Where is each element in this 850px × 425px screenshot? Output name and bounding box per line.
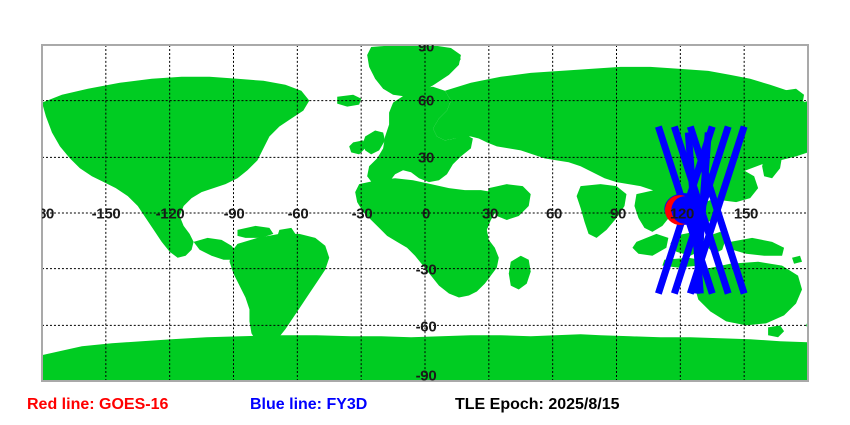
satellite-ground-track-figure: -150 -120 -90 -60 -30 0 30 60 90 120 150… xyxy=(0,0,850,425)
lat-tick-60: 60 xyxy=(418,94,434,109)
lon-tick-90: 90 xyxy=(610,207,626,222)
lat-tick-90: 90 xyxy=(418,44,434,55)
new-guinea-shape xyxy=(730,238,784,256)
lat-tick-30: 30 xyxy=(418,151,434,166)
lon-tick--150: -150 xyxy=(92,207,121,222)
lon-tick--30: -30 xyxy=(352,207,373,222)
lon-tick-180: 180 xyxy=(41,207,54,222)
lon-tick--60: -60 xyxy=(288,207,309,222)
lat-tick--30: -30 xyxy=(416,263,437,278)
lat-tick--60: -60 xyxy=(416,320,437,335)
tasmania-shape xyxy=(768,325,784,337)
legend-red-line-goes16: Red line: GOES-16 xyxy=(27,397,168,413)
lon-tick-60: 60 xyxy=(546,207,562,222)
lon-tick--90: -90 xyxy=(224,207,245,222)
ireland-shape xyxy=(349,140,365,154)
lon-tick-0: 0 xyxy=(422,207,430,222)
lon-tick-150: 150 xyxy=(734,207,758,222)
lon-tick-30: 30 xyxy=(482,207,498,222)
sumatra-shape xyxy=(632,234,668,256)
legend-blue-line-fy3d: Blue line: FY3D xyxy=(250,397,367,413)
lon-tick--120: -120 xyxy=(156,207,185,222)
madagascar-shape xyxy=(509,256,531,290)
world-map-plot: -150 -120 -90 -60 -30 0 30 60 90 120 150… xyxy=(41,44,809,382)
south-america-shape xyxy=(230,234,330,345)
lon-tick-120: 120 xyxy=(670,207,694,222)
legend-row: Red line: GOES-16 Blue line: FY3D TLE Ep… xyxy=(0,392,850,422)
africa-shape xyxy=(355,178,499,297)
legend-tle-epoch: TLE Epoch: 2025/8/15 xyxy=(455,397,620,413)
pacific-islands-shape xyxy=(792,242,808,272)
lat-tick--90: -90 xyxy=(416,369,437,383)
greenland-shape xyxy=(367,45,461,97)
